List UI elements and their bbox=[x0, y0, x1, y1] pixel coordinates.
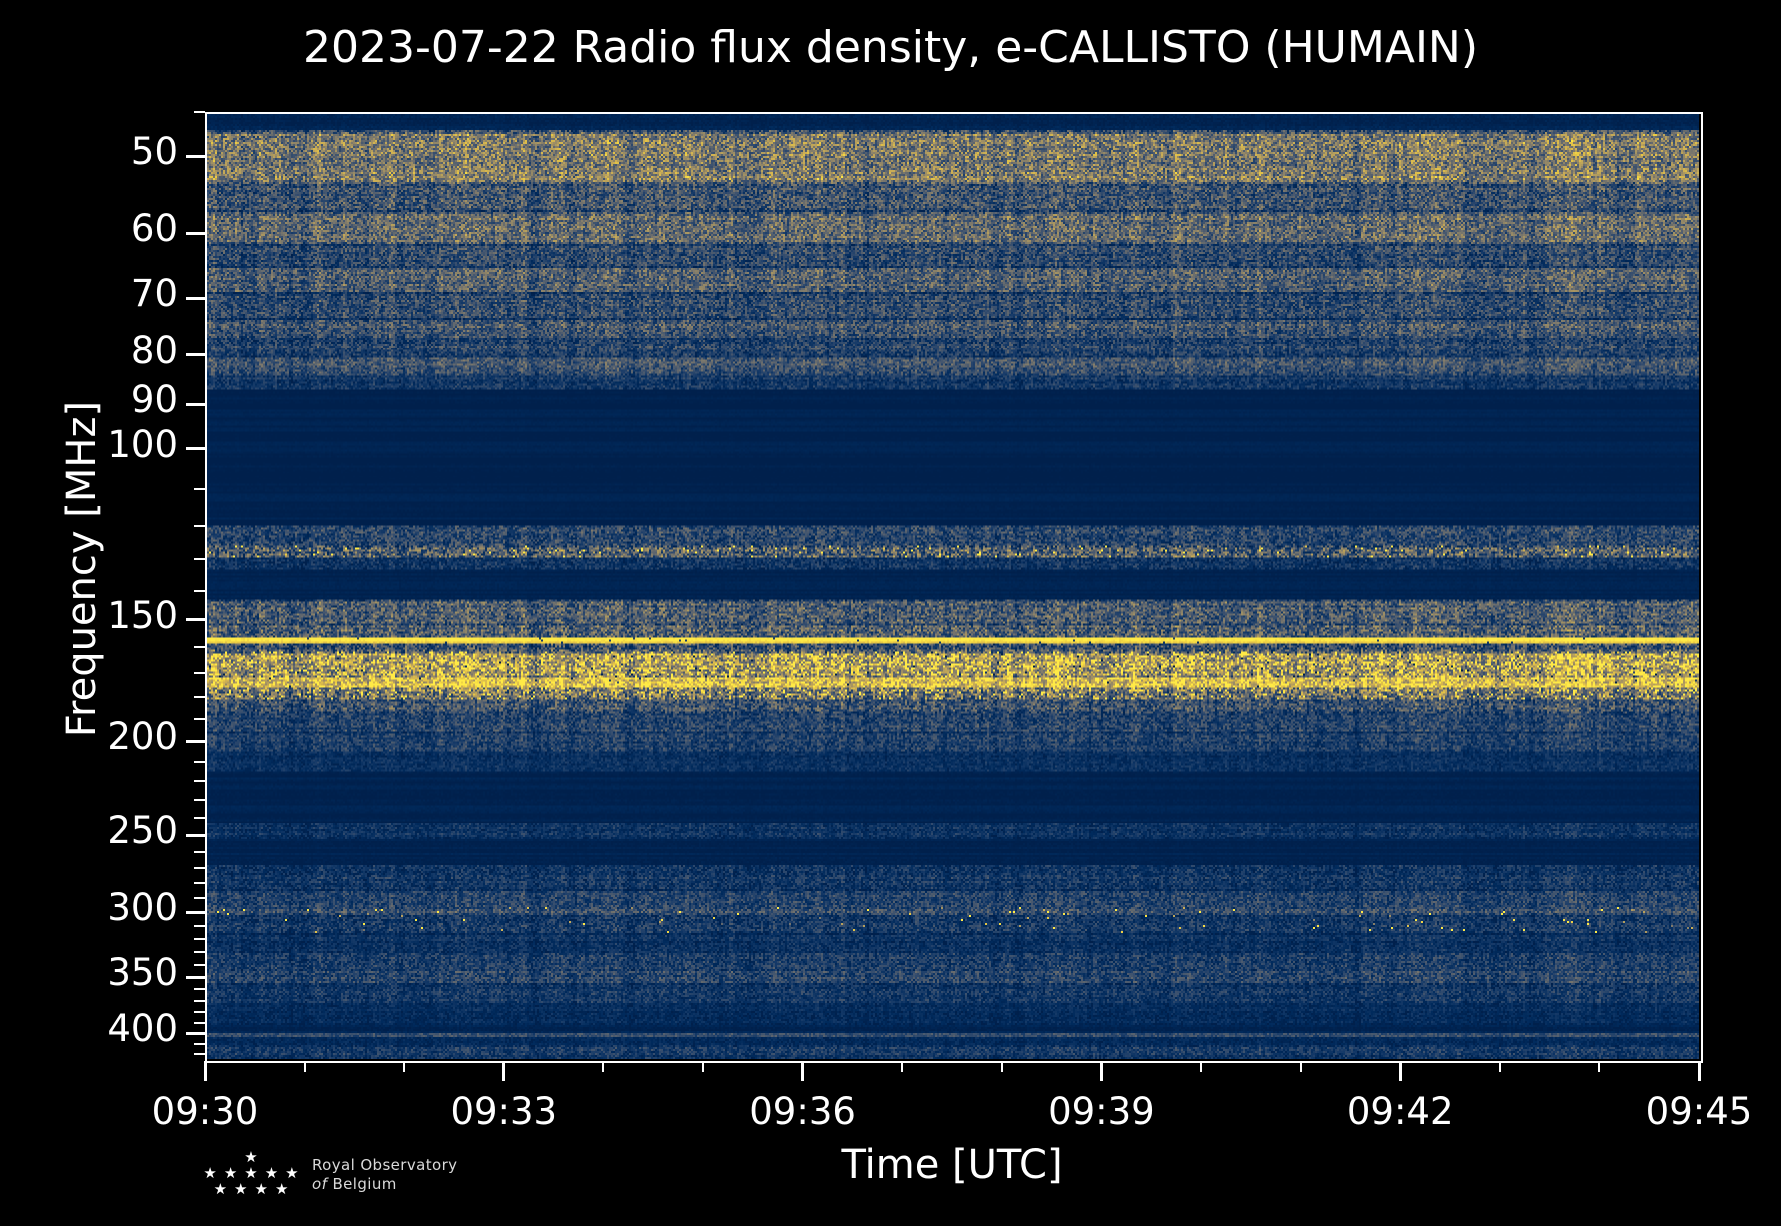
y-tick-90 bbox=[186, 403, 205, 406]
y-minor-tick bbox=[194, 525, 205, 527]
x-minor-tick bbox=[1001, 1061, 1003, 1072]
x-minor-tick bbox=[403, 1061, 405, 1072]
y-tick-400 bbox=[186, 1032, 205, 1035]
x-minor-tick bbox=[702, 1061, 704, 1072]
y-minor-tick bbox=[194, 1011, 205, 1013]
x-minor-tick bbox=[1499, 1061, 1501, 1072]
x-tick-label-09:39: 09:39 bbox=[991, 1090, 1211, 1133]
x-minor-tick bbox=[1598, 1061, 1600, 1072]
y-tick-300 bbox=[186, 911, 205, 914]
logo-line-1: Royal Observatory bbox=[312, 1156, 462, 1175]
y-minor-tick bbox=[194, 964, 205, 966]
x-tick-09:42 bbox=[1399, 1061, 1402, 1081]
x-minor-tick bbox=[602, 1061, 604, 1072]
spectrogram-plot-area bbox=[205, 112, 1699, 1059]
y-minor-tick bbox=[194, 1022, 205, 1024]
x-tick-label-09:42: 09:42 bbox=[1290, 1090, 1510, 1133]
spectrogram-image bbox=[205, 112, 1699, 1059]
y-minor-tick bbox=[194, 696, 205, 698]
x-tick-09:33 bbox=[502, 1061, 505, 1081]
y-tick-label-300: 300 bbox=[0, 886, 178, 929]
spectrogram-figure: 2023-07-22 Radio flux density, e-CALLIST… bbox=[0, 0, 1781, 1226]
x-tick-09:36 bbox=[801, 1061, 804, 1081]
y-tick-150 bbox=[186, 618, 205, 621]
y-tick-label-50: 50 bbox=[0, 130, 178, 173]
y-tick-200 bbox=[186, 740, 205, 743]
y-minor-tick bbox=[194, 867, 205, 869]
x-tick-label-09:33: 09:33 bbox=[394, 1090, 614, 1133]
y-minor-tick bbox=[194, 558, 205, 560]
y-minor-tick bbox=[194, 672, 205, 674]
y-tick-label-60: 60 bbox=[0, 207, 178, 250]
star-icon: ★ bbox=[234, 1182, 247, 1198]
y-tick-50 bbox=[186, 155, 205, 158]
y-minor-tick bbox=[194, 590, 205, 592]
y-minor-tick bbox=[194, 761, 205, 763]
y-minor-tick bbox=[194, 799, 205, 801]
x-tick-09:30 bbox=[204, 1061, 207, 1081]
y-axis-label: Frequency [MHz] bbox=[59, 249, 105, 889]
x-minor-tick bbox=[901, 1061, 903, 1072]
x-tick-09:45 bbox=[1698, 1061, 1701, 1081]
logo-line-2: of Belgium bbox=[312, 1175, 462, 1194]
y-minor-tick bbox=[194, 951, 205, 953]
y-minor-tick bbox=[194, 646, 205, 648]
y-minor-tick bbox=[194, 851, 205, 853]
y-tick-350 bbox=[186, 976, 205, 979]
y-tick-label-350: 350 bbox=[0, 951, 178, 994]
x-tick-label-09:30: 09:30 bbox=[95, 1090, 315, 1133]
star-icon: ★ bbox=[255, 1182, 268, 1198]
y-tick-100 bbox=[186, 447, 205, 450]
page-title: 2023-07-22 Radio flux density, e-CALLIST… bbox=[0, 22, 1781, 73]
logo-of-word: of bbox=[312, 1175, 327, 1193]
y-minor-tick bbox=[194, 817, 205, 819]
y-minor-tick bbox=[194, 1053, 205, 1055]
y-tick-70 bbox=[186, 297, 205, 300]
y-minor-tick bbox=[194, 882, 205, 884]
y-minor-tick bbox=[194, 925, 205, 927]
y-minor-tick bbox=[194, 897, 205, 899]
x-tick-09:39 bbox=[1100, 1061, 1103, 1081]
y-minor-tick bbox=[194, 988, 205, 990]
y-minor-tick bbox=[194, 1000, 205, 1002]
y-minor-tick bbox=[194, 1043, 205, 1045]
x-minor-tick bbox=[1200, 1061, 1202, 1072]
logo-country: Belgium bbox=[332, 1175, 396, 1193]
x-tick-label-09:36: 09:36 bbox=[693, 1090, 913, 1133]
star-icon: ★ bbox=[275, 1182, 288, 1198]
logo-text: Royal Observatory of Belgium bbox=[312, 1156, 462, 1194]
y-minor-tick bbox=[194, 718, 205, 720]
logo-star-row-2: ★★★★★ bbox=[196, 1166, 306, 1182]
y-minor-tick bbox=[194, 780, 205, 782]
y-tick-250 bbox=[186, 834, 205, 837]
logo-star-row-3: ★★★★ bbox=[196, 1182, 306, 1198]
y-minor-tick bbox=[194, 111, 205, 113]
y-minor-tick bbox=[194, 938, 205, 940]
x-tick-label-09:45: 09:45 bbox=[1589, 1090, 1781, 1133]
star-icon: ★ bbox=[214, 1182, 227, 1198]
royal-observatory-logo: ★★★★★★★★★★ Royal Observatory of Belgium bbox=[196, 1148, 456, 1214]
y-minor-tick bbox=[194, 488, 205, 490]
y-tick-label-400: 400 bbox=[0, 1007, 178, 1050]
x-minor-tick bbox=[304, 1061, 306, 1072]
y-tick-60 bbox=[186, 232, 205, 235]
x-minor-tick bbox=[1300, 1061, 1302, 1072]
logo-stars-icon: ★★★★★★★★★★ bbox=[196, 1150, 306, 1208]
y-tick-80 bbox=[186, 353, 205, 356]
